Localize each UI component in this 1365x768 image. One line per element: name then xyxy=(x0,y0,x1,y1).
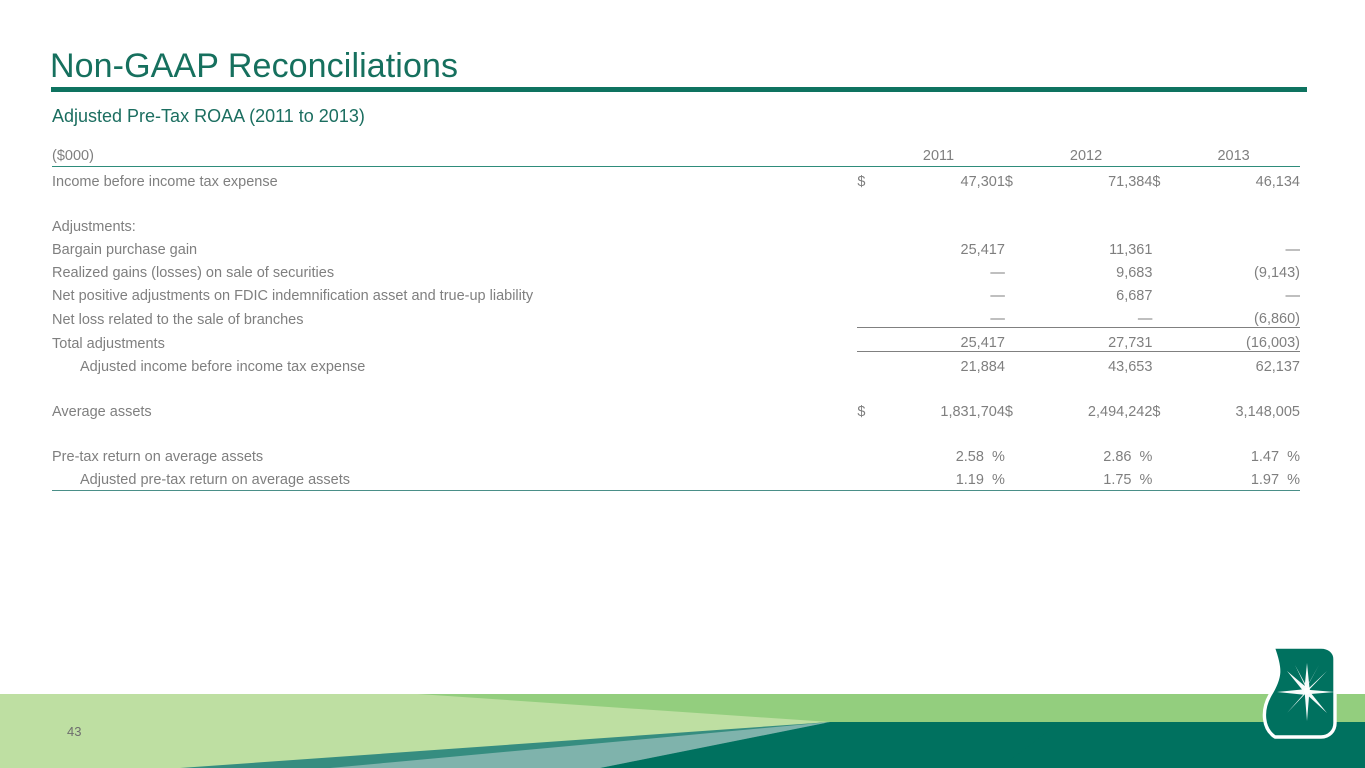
title-underline-rule xyxy=(51,87,1307,92)
row-currency-2 xyxy=(1152,235,1183,258)
table-spacer-row xyxy=(52,375,1300,397)
row-value-2: 1.47 % xyxy=(1183,442,1300,465)
row-label: Net loss related to the sale of branches xyxy=(52,304,857,328)
row-currency-1: $ xyxy=(1005,167,1036,191)
row-currency-1 xyxy=(1005,328,1036,352)
row-value-2: (6,860) xyxy=(1183,304,1300,328)
row-value-2: (16,003) xyxy=(1183,328,1300,352)
section-subtitle: Adjusted Pre-Tax ROAA (2011 to 2013) xyxy=(52,104,365,128)
header-currency-2 xyxy=(1152,142,1183,164)
row-currency-0 xyxy=(857,352,888,376)
table-row: Total adjustments 25,417 27,731 (16,003) xyxy=(52,328,1300,352)
row-currency-0 xyxy=(857,281,888,304)
row-label: Net positive adjustments on FDIC indemni… xyxy=(52,281,857,304)
column-header-2011: 2011 xyxy=(888,142,1005,164)
row-value-1: 43,653 xyxy=(1036,352,1153,376)
row-value-2: 62,137 xyxy=(1183,352,1300,376)
row-currency-1: $ xyxy=(1005,397,1036,420)
row-currency-1 xyxy=(1005,442,1036,465)
row-currency-1 xyxy=(1005,465,1036,488)
row-currency-0 xyxy=(857,442,888,465)
row-value-1: 9,683 xyxy=(1036,258,1153,281)
row-value-0: 1.19 % xyxy=(888,465,1005,488)
table-row: Income before income tax expense$47,301$… xyxy=(52,167,1300,191)
row-value-0: 47,301 xyxy=(888,167,1005,191)
row-value-2 xyxy=(1183,212,1300,235)
row-currency-2: $ xyxy=(1152,397,1183,420)
units-label: ($000) xyxy=(52,142,857,164)
row-value-1: 2.86 % xyxy=(1036,442,1153,465)
row-label: Pre-tax return on average assets xyxy=(52,442,857,465)
row-currency-2 xyxy=(1152,442,1183,465)
table-row: Net loss related to the sale of branches… xyxy=(52,304,1300,328)
table-spacer-cell xyxy=(52,190,1300,212)
column-header-2012: 2012 xyxy=(1036,142,1153,164)
table-row: Adjusted income before income tax expens… xyxy=(52,352,1300,376)
row-currency-0 xyxy=(857,304,888,328)
row-value-1: 6,687 xyxy=(1036,281,1153,304)
row-value-1: 2,494,242 xyxy=(1036,397,1153,420)
row-value-0: 1,831,704 xyxy=(888,397,1005,420)
table-spacer-cell xyxy=(52,420,1300,442)
page-title: Non-GAAP Reconciliations xyxy=(50,46,458,86)
row-value-1: 71,384 xyxy=(1036,167,1153,191)
row-value-1 xyxy=(1036,212,1153,235)
row-value-0 xyxy=(888,212,1005,235)
table-bottom-rule-cell xyxy=(52,488,1300,491)
table-spacer-cell xyxy=(52,375,1300,397)
reconciliation-table: ($000) 2011 2012 2013Income before incom… xyxy=(52,142,1300,491)
row-currency-2 xyxy=(1152,352,1183,376)
table-row: Adjustments: xyxy=(52,212,1300,235)
row-value-1: 1.75 % xyxy=(1036,465,1153,488)
row-currency-1 xyxy=(1005,212,1036,235)
row-currency-2 xyxy=(1152,304,1183,328)
bottom-decorative-graphic xyxy=(0,688,1365,768)
row-currency-0 xyxy=(857,235,888,258)
column-header-2013: 2013 xyxy=(1183,142,1300,164)
row-currency-1 xyxy=(1005,235,1036,258)
row-value-2: — xyxy=(1183,281,1300,304)
row-value-2: 1.97 % xyxy=(1183,465,1300,488)
table-row: Realized gains (losses) on sale of secur… xyxy=(52,258,1300,281)
table-row: Average assets$1,831,704$2,494,242$3,148… xyxy=(52,397,1300,420)
row-currency-2: $ xyxy=(1152,167,1183,191)
row-currency-2 xyxy=(1152,465,1183,488)
table-row: Pre-tax return on average assets 2.58 % … xyxy=(52,442,1300,465)
row-label: Adjusted income before income tax expens… xyxy=(52,352,857,376)
table-spacer-row xyxy=(52,420,1300,442)
row-label: Income before income tax expense xyxy=(52,167,857,191)
row-label: Average assets xyxy=(52,397,857,420)
row-label: Adjustments: xyxy=(52,212,857,235)
row-value-2: 3,148,005 xyxy=(1183,397,1300,420)
table-row: Net positive adjustments on FDIC indemni… xyxy=(52,281,1300,304)
row-value-2: (9,143) xyxy=(1183,258,1300,281)
row-value-0: 21,884 xyxy=(888,352,1005,376)
row-label: Total adjustments xyxy=(52,328,857,352)
starburst-banner-logo xyxy=(1259,643,1345,746)
row-currency-0: $ xyxy=(857,397,888,420)
row-value-2: — xyxy=(1183,235,1300,258)
table-row: Bargain purchase gain 25,417 11,361 — xyxy=(52,235,1300,258)
row-currency-2 xyxy=(1152,258,1183,281)
table-spacer-row xyxy=(52,190,1300,212)
table-bottom-rule xyxy=(52,488,1300,491)
header-currency-0 xyxy=(857,142,888,164)
reconciliation-table-container: ($000) 2011 2012 2013Income before incom… xyxy=(52,142,1300,491)
row-label: Adjusted pre-tax return on average asset… xyxy=(52,465,857,488)
table-header-row: ($000) 2011 2012 2013 xyxy=(52,142,1300,164)
row-currency-2 xyxy=(1152,281,1183,304)
row-value-0: — xyxy=(888,258,1005,281)
row-currency-0 xyxy=(857,465,888,488)
row-value-1: 27,731 xyxy=(1036,328,1153,352)
row-currency-0 xyxy=(857,258,888,281)
row-value-1: — xyxy=(1036,304,1153,328)
row-value-0: — xyxy=(888,281,1005,304)
row-currency-2 xyxy=(1152,212,1183,235)
row-currency-0 xyxy=(857,212,888,235)
row-value-2: 46,134 xyxy=(1183,167,1300,191)
row-value-0: 2.58 % xyxy=(888,442,1005,465)
row-currency-0 xyxy=(857,328,888,352)
row-value-1: 11,361 xyxy=(1036,235,1153,258)
row-currency-1 xyxy=(1005,258,1036,281)
row-label: Bargain purchase gain xyxy=(52,235,857,258)
row-value-0: 25,417 xyxy=(888,235,1005,258)
row-currency-0: $ xyxy=(857,167,888,191)
row-label: Realized gains (losses) on sale of secur… xyxy=(52,258,857,281)
row-value-0: — xyxy=(888,304,1005,328)
row-value-0: 25,417 xyxy=(888,328,1005,352)
row-currency-2 xyxy=(1152,328,1183,352)
table-row: Adjusted pre-tax return on average asset… xyxy=(52,465,1300,488)
row-currency-1 xyxy=(1005,304,1036,328)
header-currency-1 xyxy=(1005,142,1036,164)
page-number: 43 xyxy=(67,724,81,739)
row-currency-1 xyxy=(1005,281,1036,304)
row-currency-1 xyxy=(1005,352,1036,376)
